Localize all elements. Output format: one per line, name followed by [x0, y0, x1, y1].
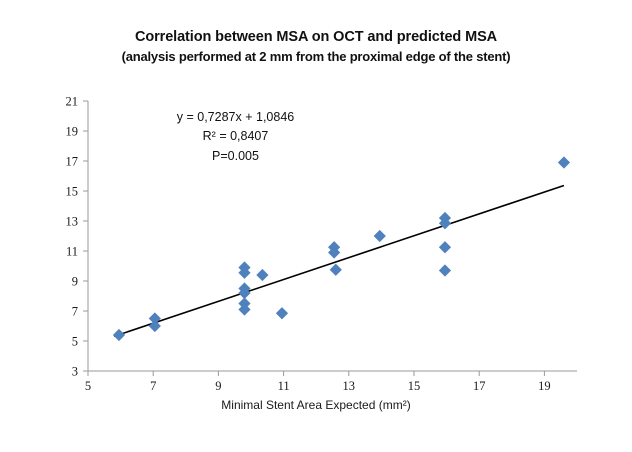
- data-point-marker: [256, 269, 268, 281]
- data-point-marker: [276, 307, 288, 319]
- y-tick-label: 21: [66, 95, 79, 109]
- trendline-path: [114, 185, 564, 336]
- y-tick-label: 17: [66, 155, 79, 169]
- x-tick-label: 19: [538, 379, 551, 393]
- data-point-marker: [374, 230, 386, 242]
- x-tick-label: 15: [408, 379, 421, 393]
- x-tick-label: 5: [85, 379, 91, 393]
- x-tick-label: 17: [473, 379, 486, 393]
- data-point-marker: [439, 241, 451, 253]
- data-point-marker: [330, 264, 342, 276]
- trendline: [114, 185, 564, 336]
- x-tick-label: 11: [278, 379, 290, 393]
- y-tick-label: 5: [72, 335, 78, 349]
- x-tick-label: 9: [215, 379, 221, 393]
- x-tick-label: 7: [150, 379, 156, 393]
- data-point-marker: [113, 329, 125, 341]
- y-tick-label: 7: [72, 305, 78, 319]
- y-tick-label: 11: [66, 245, 78, 259]
- chart-container: Correlation between MSA on OCT and predi…: [0, 0, 632, 452]
- data-point-marker: [439, 264, 451, 276]
- y-tick-label: 9: [72, 275, 78, 289]
- axis-layer: 35791113151719215791113151719: [66, 95, 578, 394]
- data-point-marker: [558, 156, 570, 168]
- y-tick-label: 13: [66, 215, 79, 229]
- y-tick-label: 15: [66, 185, 79, 199]
- x-tick-label: 13: [343, 379, 356, 393]
- y-tick-label: 19: [66, 125, 79, 139]
- plot-area: 35791113151719215791113151719: [0, 0, 632, 452]
- y-tick-label: 3: [72, 365, 78, 379]
